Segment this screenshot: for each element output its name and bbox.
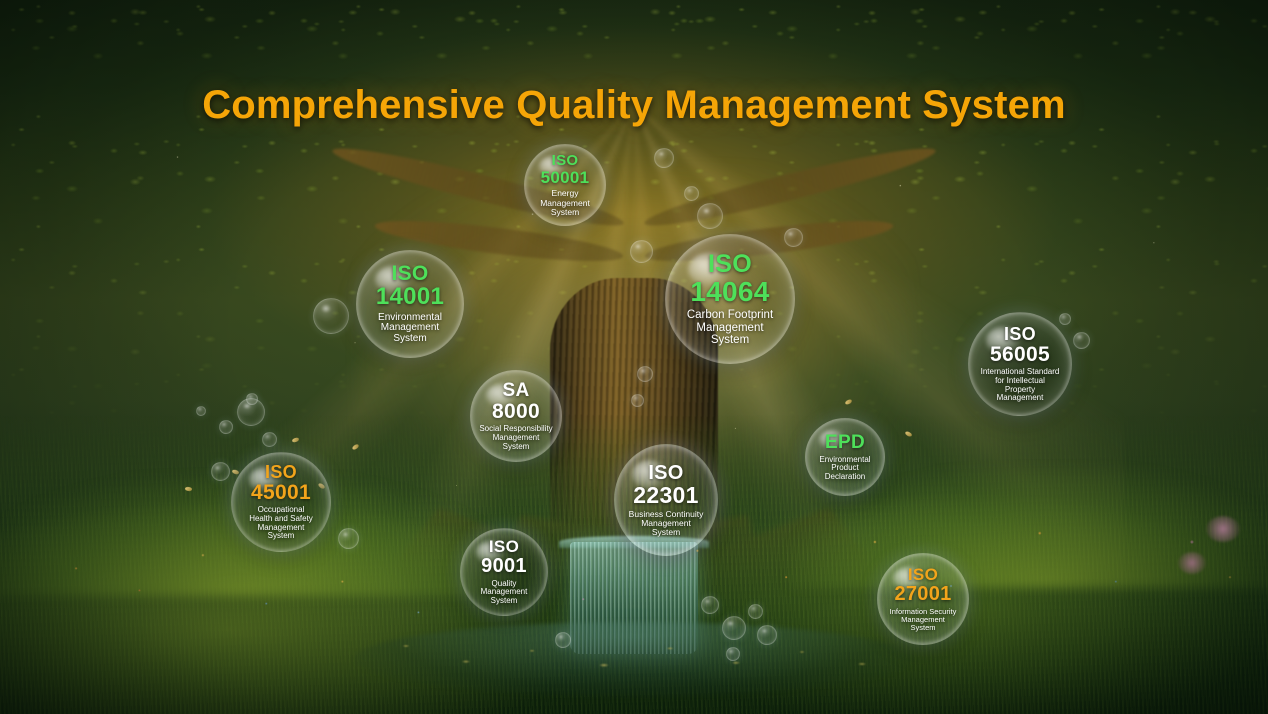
decorative-bubble xyxy=(637,366,653,382)
pink-flower xyxy=(1206,516,1240,542)
decorative-bubble xyxy=(748,604,763,619)
decorative-bubble xyxy=(219,420,233,434)
standard-code: ISO xyxy=(265,463,297,481)
standard-number: 8000 xyxy=(492,401,540,422)
decorative-bubble xyxy=(1073,332,1090,349)
standard-bubble-sa-8000[interactable]: SA 8000 Social ResponsibilityManagementS… xyxy=(470,370,562,462)
standard-description: EnergyManagementSystem xyxy=(535,189,595,217)
standard-bubble-iso-22301[interactable]: ISO 22301 Business ContinuityManagementS… xyxy=(614,444,718,556)
falling-petal xyxy=(845,399,853,405)
standard-description: QualityManagementSystem xyxy=(476,580,533,606)
decorative-bubble xyxy=(1059,313,1071,325)
decorative-bubble xyxy=(338,528,359,549)
infographic-canvas: Comprehensive Quality Management System … xyxy=(0,0,1268,714)
decorative-bubble xyxy=(697,203,723,229)
tree-canopy-texture xyxy=(0,0,1268,443)
standard-bubble-iso-9001[interactable]: ISO 9001 QualityManagementSystem xyxy=(460,528,548,616)
standard-description: EnvironmentalManagementSystem xyxy=(373,313,447,345)
standard-number: 14001 xyxy=(376,285,444,309)
standard-number: 50001 xyxy=(541,169,590,186)
standard-number: 27001 xyxy=(894,584,951,604)
standard-code: EPD xyxy=(825,433,865,452)
standard-bubble-iso-14064[interactable]: ISO 14064 Carbon FootprintManagementSyst… xyxy=(665,234,795,364)
standard-code: ISO xyxy=(1004,325,1036,343)
decorative-bubble xyxy=(313,298,349,334)
standard-number: 14064 xyxy=(690,278,769,307)
decorative-bubble xyxy=(684,186,699,201)
pink-flower xyxy=(1178,552,1206,574)
standard-bubble-iso-27001[interactable]: ISO 27001 Information SecurityManagement… xyxy=(877,553,969,645)
standard-code: ISO xyxy=(648,463,683,483)
decorative-bubble xyxy=(262,432,277,447)
decorative-bubble xyxy=(237,398,265,426)
standard-number: 45001 xyxy=(251,482,311,503)
decorative-bubble xyxy=(196,406,206,416)
decorative-bubble xyxy=(211,462,230,481)
decorative-bubble xyxy=(555,632,571,648)
decorative-bubble xyxy=(784,228,803,247)
standard-code: ISO xyxy=(908,566,938,583)
standard-number: 22301 xyxy=(633,484,698,507)
standard-description: OccupationalHealth and SafetyManagementS… xyxy=(244,506,318,541)
standard-code: SA xyxy=(503,381,530,400)
standard-description: EnvironmentalProductDeclaration xyxy=(814,456,875,482)
decorative-bubble xyxy=(722,616,746,640)
standard-description: Information SecurityManagementSystem xyxy=(885,608,962,632)
standard-code: ISO xyxy=(489,538,519,555)
standard-code: ISO xyxy=(552,153,579,168)
decorative-bubble xyxy=(631,394,644,407)
decorative-bubble xyxy=(630,240,653,263)
decorative-bubble xyxy=(654,148,674,168)
page-title: Comprehensive Quality Management System xyxy=(0,84,1268,126)
standard-description: Carbon FootprintManagementSystem xyxy=(682,309,778,346)
standard-description: International Standardfor IntellectualPr… xyxy=(976,368,1065,403)
standard-number: 56005 xyxy=(990,344,1050,365)
decorative-bubble xyxy=(726,647,740,661)
decorative-bubble xyxy=(701,596,719,614)
standard-bubble-iso-50001[interactable]: ISO 50001 EnergyManagementSystem xyxy=(524,144,606,226)
standard-bubble-iso-45001[interactable]: ISO 45001 OccupationalHealth and SafetyM… xyxy=(231,452,331,552)
standard-code: ISO xyxy=(708,252,752,277)
standard-bubble-iso-56005[interactable]: ISO 56005 International Standardfor Inte… xyxy=(968,312,1072,416)
standard-bubble-iso-14001[interactable]: ISO 14001 EnvironmentalManagementSystem xyxy=(356,250,464,358)
decorative-bubble xyxy=(757,625,777,645)
standard-code: ISO xyxy=(391,263,428,284)
standard-description: Social ResponsibilityManagementSystem xyxy=(474,425,557,451)
standard-bubble-epd[interactable]: EPD EnvironmentalProductDeclaration xyxy=(805,418,885,496)
standard-description: Business ContinuityManagementSystem xyxy=(624,510,709,538)
standard-number: 9001 xyxy=(481,556,527,576)
